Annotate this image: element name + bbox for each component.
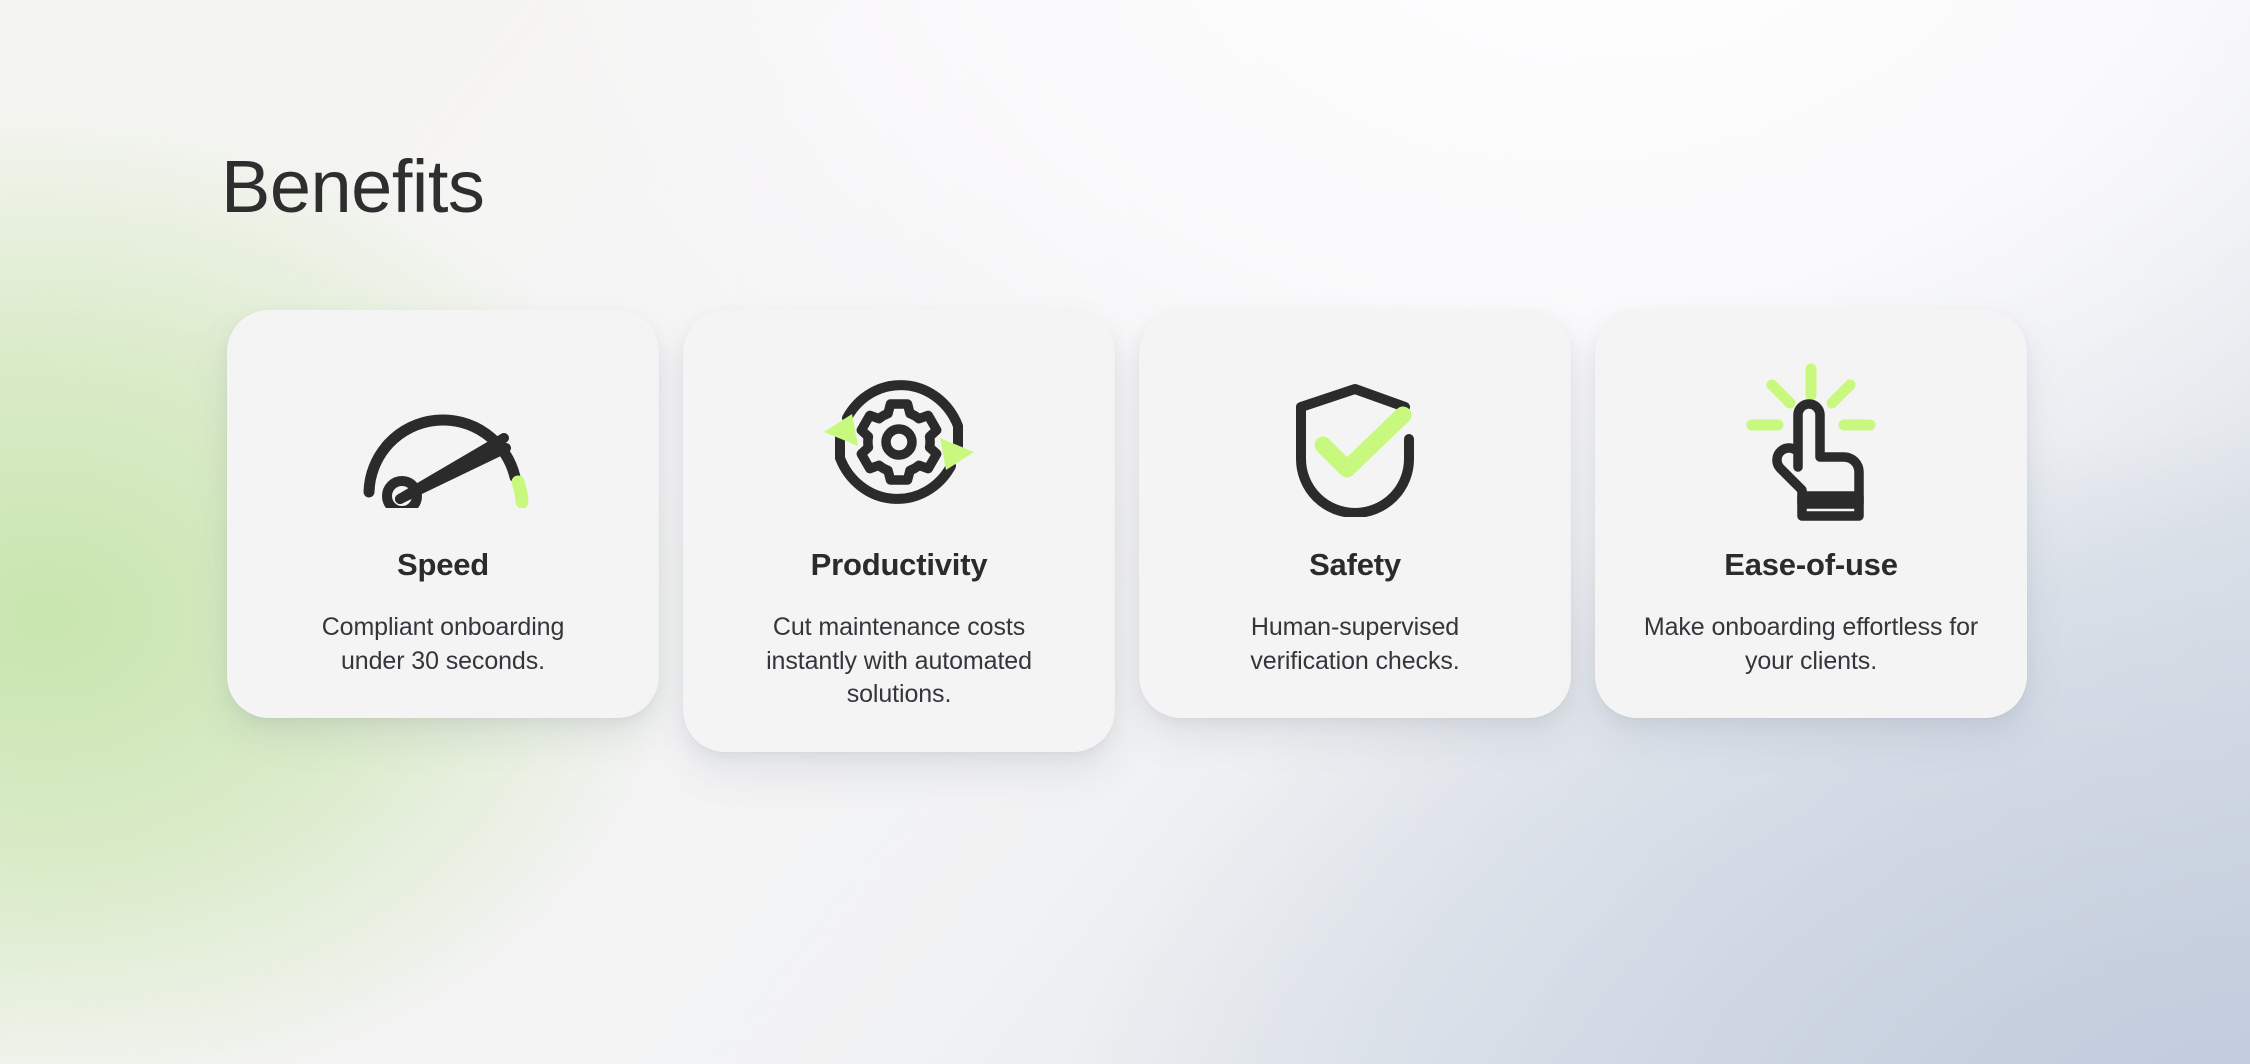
- card-description: Compliant onboarding under 30 seconds.: [293, 611, 593, 678]
- card-title: Speed: [397, 546, 489, 583]
- benefit-card-speed[interactable]: Speed Compliant onboarding under 30 seco…: [227, 310, 659, 718]
- card-description: Human-supervised verification checks.: [1225, 611, 1485, 678]
- click-hand-icon: [1740, 362, 1882, 522]
- card-description: Make onboarding effortless for your clie…: [1634, 611, 1989, 678]
- gear-refresh-icon: [816, 362, 982, 522]
- benefit-card-ease-of-use[interactable]: Ease-of-use Make onboarding effortless f…: [1595, 310, 2027, 718]
- card-description: Cut maintenance costs instantly with aut…: [764, 611, 1034, 712]
- benefits-section: Benefits Speed Compliant onboarding unde…: [0, 0, 2250, 1064]
- benefit-card-safety[interactable]: Safety Human-supervised verification che…: [1139, 310, 1571, 718]
- speedometer-icon: [355, 362, 531, 522]
- benefit-card-productivity[interactable]: Productivity Cut maintenance costs insta…: [683, 310, 1115, 752]
- card-title: Ease-of-use: [1724, 546, 1898, 583]
- page-title: Benefits: [221, 148, 484, 226]
- shield-check-icon: [1287, 362, 1423, 522]
- card-title: Safety: [1309, 546, 1401, 583]
- benefits-card-row: Speed Compliant onboarding under 30 seco…: [227, 310, 2027, 752]
- card-title: Productivity: [811, 546, 988, 583]
